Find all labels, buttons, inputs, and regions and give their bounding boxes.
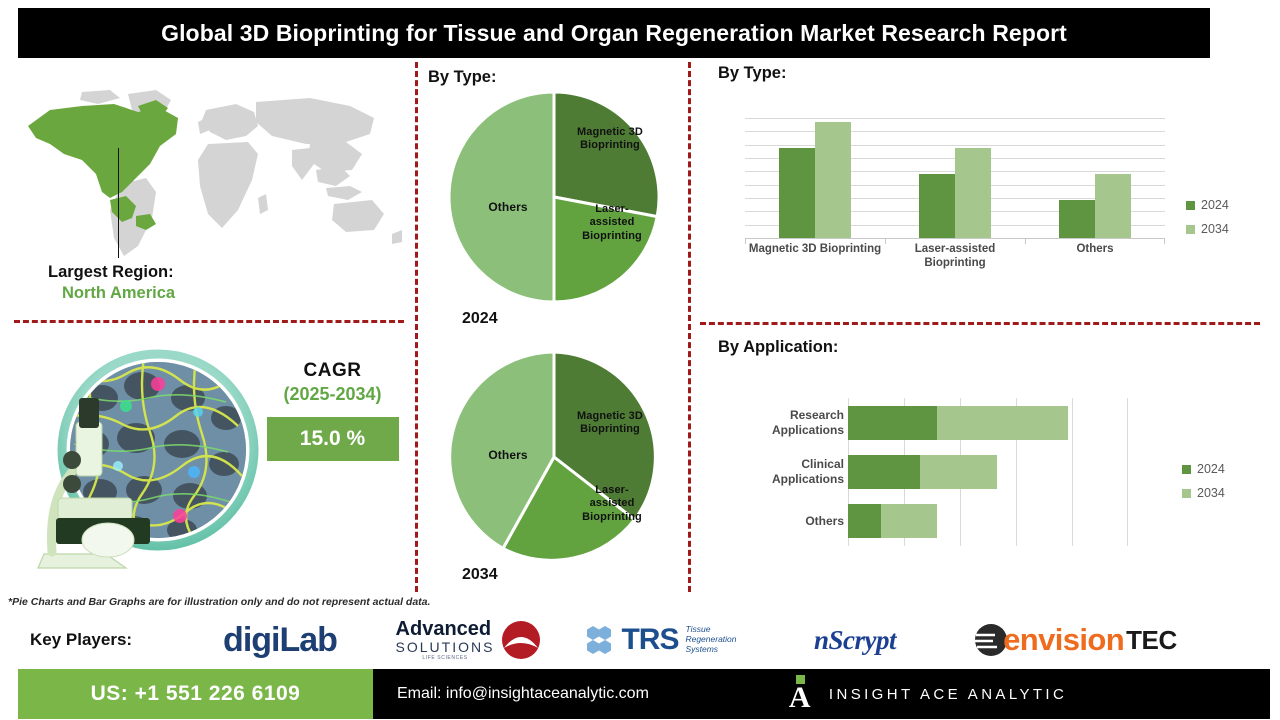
legend-label-2034: 2034 <box>1201 222 1229 236</box>
footer-right: Email: info@insightaceanalytic.com A INS… <box>373 669 1270 719</box>
app-legend-swatch-2024 <box>1182 465 1191 474</box>
app-clinical-2034 <box>920 455 997 489</box>
app-chart-category-labels: ResearchApplications ClinicalApplication… <box>720 398 844 546</box>
insightace-logo-icon: A <box>789 675 815 713</box>
bar-group-others <box>1025 118 1165 238</box>
app-chart-rows <box>848 398 1128 546</box>
map-pointer-line <box>118 148 119 258</box>
logo-trs: TRS Tissue Regeneration Systems <box>560 615 760 665</box>
bar-cat-others: Others <box>1025 242 1165 271</box>
pie-2034-slice-label-others: Others <box>470 448 546 463</box>
divider-vertical-left <box>415 62 418 592</box>
footer-email[interactable]: Email: info@insightaceanalytic.com <box>397 685 649 703</box>
bar-chart-groups <box>745 118 1165 238</box>
largest-region-label: Largest Region: <box>48 263 174 281</box>
app-cat-clinical: ClinicalApplications <box>720 455 844 489</box>
key-players-label: Key Players: <box>30 630 132 650</box>
app-cat-research: ResearchApplications <box>720 406 844 440</box>
key-players-logos: digiLab Advanced SOLUTIONS LIFE SCIENCES <box>180 615 1270 665</box>
bar-group-magnetic <box>745 118 885 238</box>
footer-bar: US: +1 551 226 6109 Email: info@insighta… <box>18 669 1270 719</box>
world-map-icon <box>10 88 410 263</box>
page-title: Global 3D Bioprinting for Tissue and Org… <box>161 20 1067 47</box>
bar-chart-x-axis <box>745 238 1165 239</box>
bar-cat-magnetic: Magnetic 3D Bioprinting <box>745 242 885 271</box>
app-clinical-2024 <box>848 455 920 489</box>
bar-others-2024 <box>1059 200 1095 238</box>
bar-chart-by-application <box>848 398 1128 546</box>
app-legend-item-2034: 2034 <box>1182 486 1225 500</box>
app-others-2034 <box>881 504 937 538</box>
logo-advanced-line3: LIFE SCIENCES <box>422 656 467 661</box>
pie-section-heading: By Type: <box>428 68 496 87</box>
disclaimer-text: *Pie Charts and Bar Graphs are for illus… <box>8 596 430 608</box>
microscope-icon <box>30 340 262 588</box>
advanced-solutions-mark-icon <box>498 620 544 660</box>
cagr-years: (2025-2034) <box>250 384 415 405</box>
logo-digilab: digiLab <box>180 615 380 665</box>
bar-laser-2024 <box>919 174 955 238</box>
app-row-clinical <box>848 455 1128 489</box>
pie-2024-slice-label-magnetic: Magnetic 3D Bioprinting <box>556 126 664 153</box>
cagr-block: CAGR (2025-2034) 15.0 % <box>250 360 415 461</box>
app-legend-swatch-2034 <box>1182 489 1191 498</box>
bar-cat-laser: Laser-assisted Bioprinting <box>885 242 1025 271</box>
app-research-2024 <box>848 406 937 440</box>
cagr-value: 15.0 % <box>267 417 399 461</box>
bar-chart-by-type <box>745 118 1165 238</box>
bar-magnetic-2034 <box>815 122 851 238</box>
app-legend-label-2024: 2024 <box>1197 462 1225 476</box>
bar-others-2034 <box>1095 174 1131 238</box>
largest-region: Largest Region: North America <box>48 262 348 304</box>
pie-2024-slice-label-laser: Laser- assisted Bioprinting <box>562 203 662 243</box>
brand-letter-a: A <box>789 683 815 713</box>
app-legend-item-2024: 2024 <box>1182 462 1225 476</box>
legend-item-2024: 2024 <box>1186 198 1229 212</box>
footer-brand-name: INSIGHT ACE ANALYTIC <box>829 686 1067 703</box>
logo-trs-line3: Systems <box>685 645 736 655</box>
pie-2024-slice-label-others: Others <box>470 200 546 215</box>
logo-digilab-text: digiLab <box>223 621 337 660</box>
logo-advanced-line1: Advanced <box>396 619 492 639</box>
bar-laser-2034 <box>955 148 991 238</box>
legend-swatch-2024 <box>1186 201 1195 210</box>
pie-2034-year: 2034 <box>462 566 498 584</box>
infographic-page: Global 3D Bioprinting for Tissue and Org… <box>0 0 1280 720</box>
app-cat-others: Others <box>720 504 844 538</box>
trs-hex-icon <box>583 623 617 657</box>
logo-nscrypt-text: nScrypt <box>814 625 896 656</box>
logo-nscrypt: nScrypt <box>760 615 950 665</box>
divider-horizontal-right <box>700 322 1260 325</box>
app-row-research <box>848 406 1128 440</box>
largest-region-value: North America <box>48 283 348 304</box>
footer-brand: A INSIGHT ACE ANALYTIC <box>789 675 1067 713</box>
app-legend-label-2034: 2034 <box>1197 486 1225 500</box>
logo-envisiontec-text2: TEC <box>1126 625 1177 656</box>
app-research-2034 <box>937 406 1068 440</box>
divider-vertical-right <box>688 62 691 592</box>
divider-horizontal-left <box>14 320 404 323</box>
logo-advanced-solutions: Advanced SOLUTIONS LIFE SCIENCES <box>380 615 560 665</box>
app-others-2024 <box>848 504 881 538</box>
application-section-heading: By Application: <box>718 338 838 357</box>
pie-2034-slice-label-magnetic: Magnetic 3D Bioprinting <box>556 410 664 437</box>
app-chart-legend: 2024 2034 <box>1182 462 1225 500</box>
logo-trs-abbr: TRS <box>621 623 678 657</box>
bar-group-laser <box>885 118 1025 238</box>
bar-section-heading: By Type: <box>718 64 786 83</box>
pie-chart-2024 <box>445 88 663 306</box>
app-row-others <box>848 504 1128 538</box>
header-banner: Global 3D Bioprinting for Tissue and Org… <box>18 8 1210 58</box>
legend-item-2034: 2034 <box>1186 222 1229 236</box>
bar-magnetic-2024 <box>779 148 815 238</box>
legend-label-2024: 2024 <box>1201 198 1229 212</box>
bar-chart-legend: 2024 2034 <box>1186 198 1229 236</box>
logo-advanced-line2: SOLUTIONS <box>396 640 495 654</box>
pie-2034-slice-label-laser: Laser- assisted Bioprinting <box>562 484 662 524</box>
footer-phone[interactable]: US: +1 551 226 6109 <box>18 669 373 719</box>
pie-2024-year: 2024 <box>462 310 498 328</box>
logo-envisiontec: envision TEC <box>950 615 1200 665</box>
legend-swatch-2034 <box>1186 225 1195 234</box>
bar-chart-category-labels: Magnetic 3D Bioprinting Laser-assisted B… <box>745 242 1165 271</box>
logo-envisiontec-text1: envision <box>1003 622 1124 658</box>
cagr-title: CAGR <box>250 360 415 382</box>
